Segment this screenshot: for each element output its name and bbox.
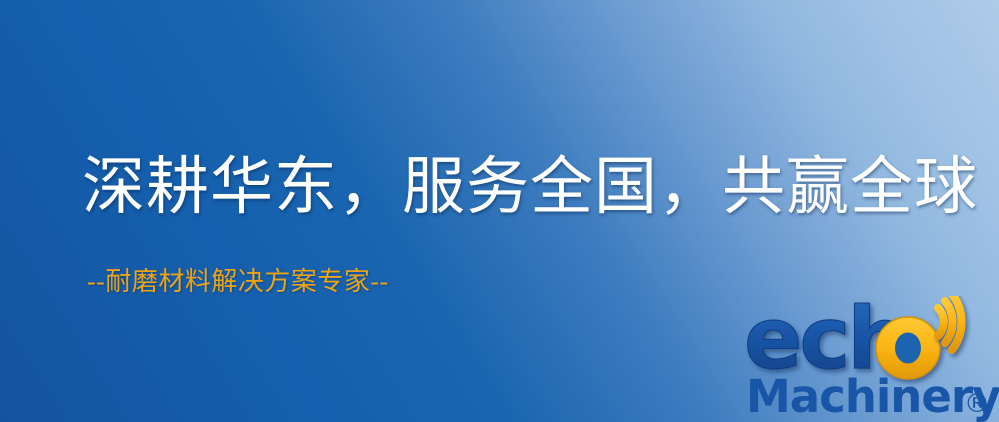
logo-wordmark-machinery: Machinery ® [746,370,999,422]
logo-machinery-text: Machinery [746,370,999,422]
page-title: 深耕华东，服务全国，共赢全球 [82,151,978,223]
logo-signal-waves-icon [938,296,962,350]
hero-banner: 深耕华东，服务全国，共赢全球 --耐磨材料解决方案专家-- [0,0,999,422]
logo-graphic: ech Machinery ® [742,296,999,422]
echo-machinery-logo[interactable]: ech Machinery ® [742,296,999,422]
logo-registered-mark: ® [964,389,990,419]
page-subtitle: --耐磨材料解决方案专家-- [87,266,389,298]
